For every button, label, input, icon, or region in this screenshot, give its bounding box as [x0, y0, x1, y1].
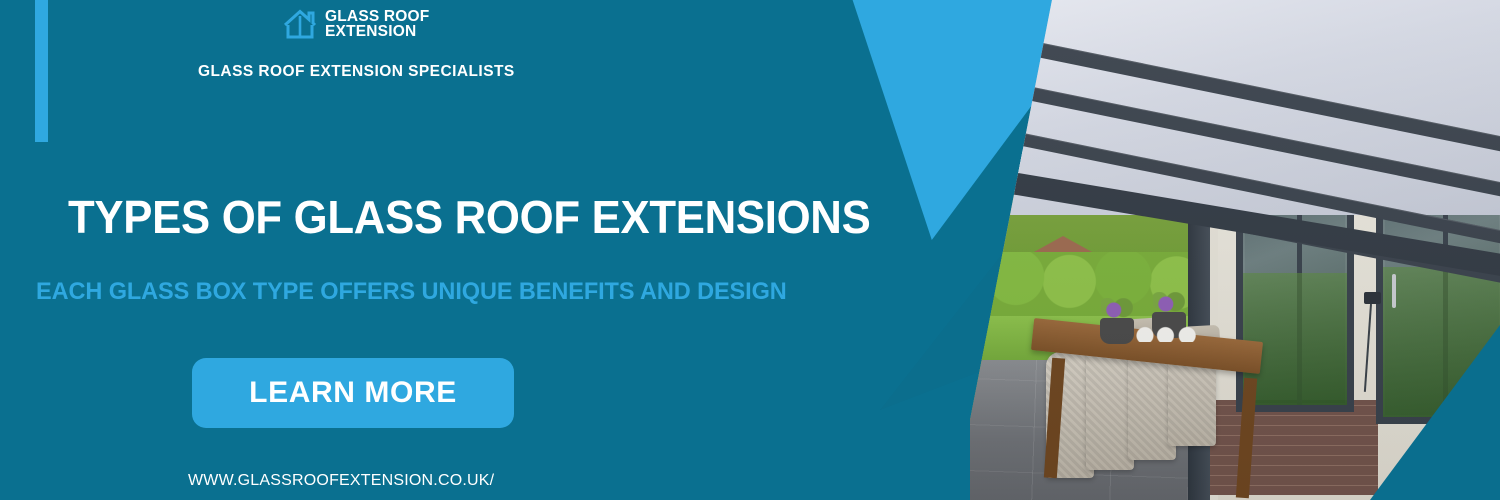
promo-banner: GLASS ROOF EXTENSION GLASS ROOF EXTENSIO… — [0, 0, 1500, 500]
brand-tagline: GLASS ROOF EXTENSION SPECIALISTS — [198, 63, 515, 81]
brand-logo-line-1: GLASS ROOF — [325, 9, 429, 24]
photo-scene — [940, 0, 1500, 500]
page-subtitle: EACH GLASS BOX TYPE OFFERS UNIQUE BENEFI… — [36, 278, 787, 306]
banner-content: GLASS ROOF EXTENSION GLASS ROOF EXTENSIO… — [0, 0, 940, 500]
veranda-photo — [940, 0, 1500, 500]
brand-logo-text: GLASS ROOF EXTENSION — [325, 9, 429, 39]
photo-overlay — [940, 0, 1500, 500]
brand-logo-line-2: EXTENSION — [325, 24, 429, 39]
flower-planter — [940, 318, 968, 348]
website-url[interactable]: WWW.GLASSROOFEXTENSION.CO.UK/ — [188, 472, 494, 490]
page-title: TYPES OF GLASS ROOF EXTENSIONS — [68, 190, 870, 244]
brand-logo[interactable]: GLASS ROOF EXTENSION — [283, 8, 429, 40]
house-outline-icon — [283, 8, 317, 40]
learn-more-button[interactable]: LEARN MORE — [192, 358, 514, 428]
